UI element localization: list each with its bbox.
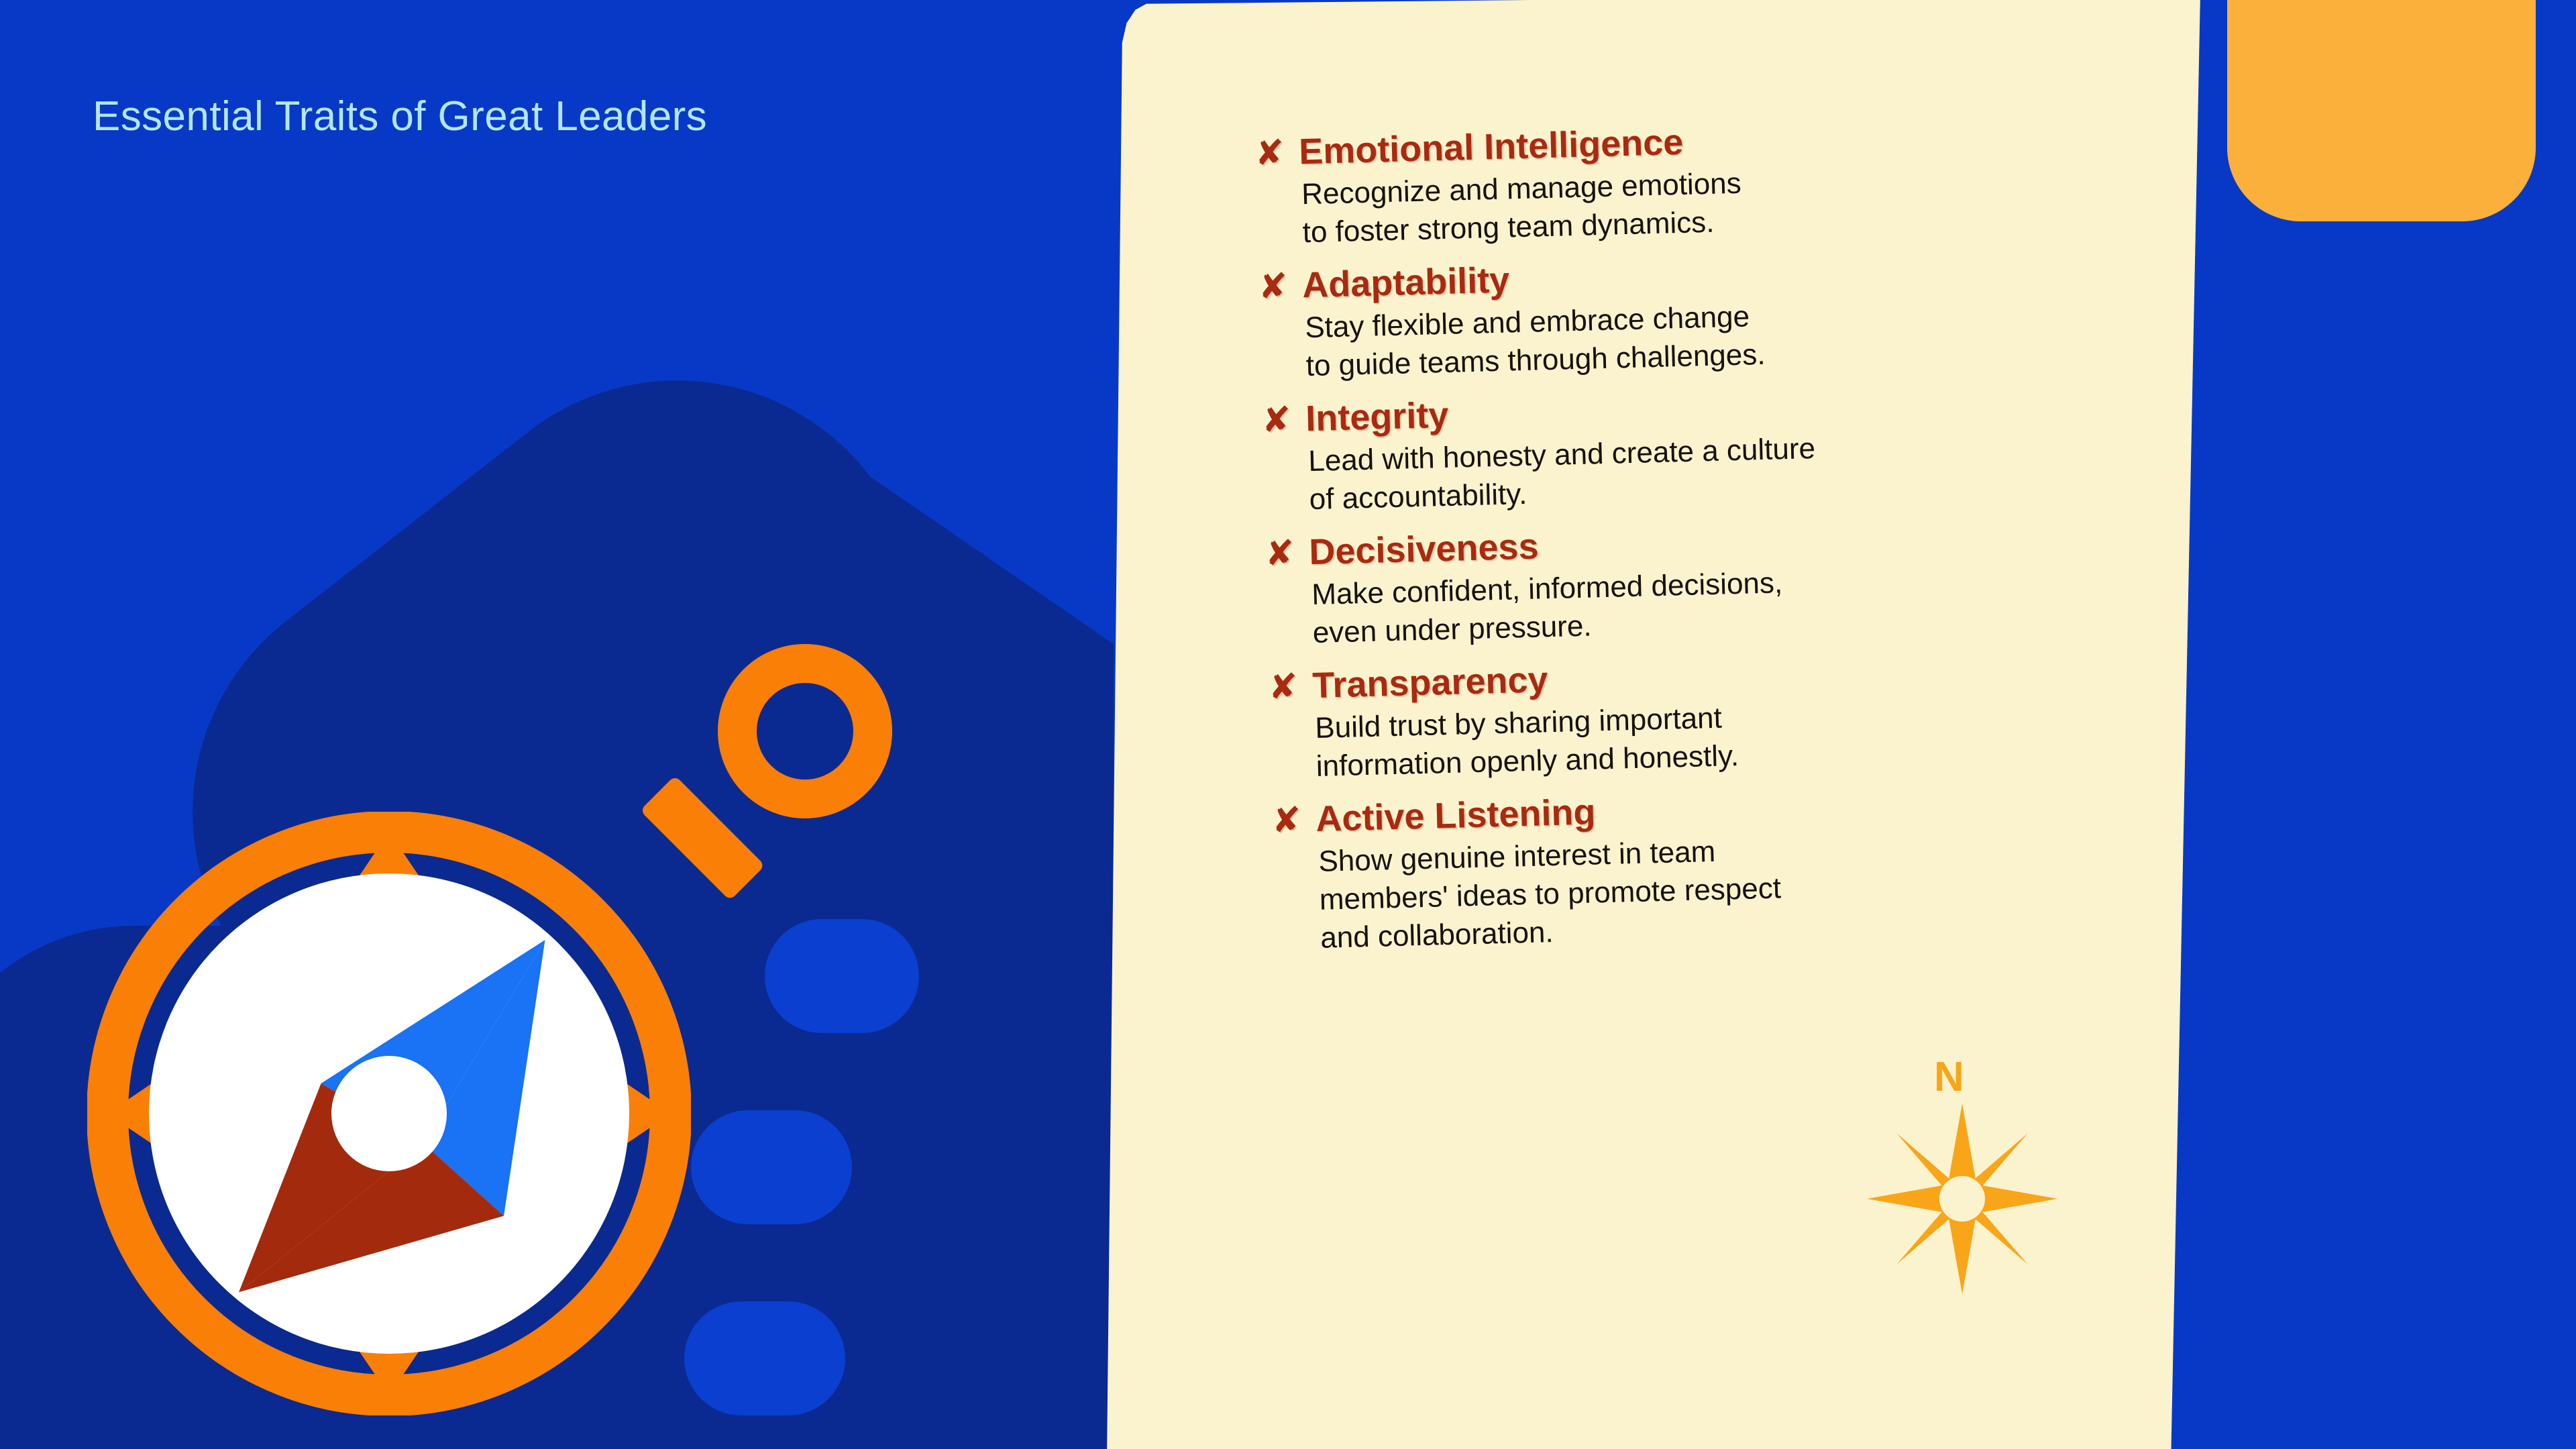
compass-handle-ring-icon [718,644,892,818]
trait-description: Stay flexible and embrace change to guid… [1305,290,2018,385]
x-mark-icon: ✘ [1258,269,1288,305]
trait-item[interactable]: ✘ Active Listening Show genuine interest… [1271,782,2067,959]
trait-description: Build trust by sharing important informa… [1315,691,2028,786]
compass-rose-icon: N [1862,1057,2063,1311]
traits-list: ✘ Emotional Intelligence Recognize and m… [1254,114,2067,973]
slide-root: ✘ Emotional Intelligence Recognize and m… [0,0,2576,1449]
x-mark-icon: ✘ [1254,136,1285,171]
x-mark-icon: ✘ [1265,536,1295,572]
trait-title: Integrity [1305,396,1449,438]
trait-description: Make confident, informed decisions, even… [1311,557,2025,652]
compass-dial-icon [87,812,691,1415]
trait-title: Active Listening [1316,794,1596,839]
trait-item[interactable]: ✘ Decisiveness Make confident, informed … [1265,515,2059,653]
trait-description: Lead with honesty and create a culture o… [1308,424,2021,519]
compass-rose-north-label: N [1934,1057,1964,1098]
x-mark-icon: ✘ [1271,803,1301,839]
trait-item[interactable]: ✘ Adaptability Stay flexible and embrace… [1258,248,2052,386]
compass-illustration [67,644,792,1368]
trait-description: Show genuine interest in team members' i… [1318,824,2032,957]
trait-title: Emotional Intelligence [1299,123,1684,171]
trait-item[interactable]: ✘ Transparency Build trust by sharing im… [1268,648,2062,787]
x-mark-icon: ✘ [1268,669,1298,705]
amber-accent-block [2227,0,2536,221]
trait-description: Recognize and manage emotions to foster … [1301,157,2015,252]
x-mark-icon: ✘ [1261,402,1291,438]
trait-title: Decisiveness [1309,528,1540,572]
trait-title: Transparency [1312,661,1549,705]
trait-title: Adaptability [1302,262,1510,305]
trait-item[interactable]: ✘ Emotional Intelligence Recognize and m… [1254,114,2049,253]
content-card: ✘ Emotional Intelligence Recognize and m… [1100,0,2200,1449]
compass-rose-star [1862,1098,2063,1299]
page-title: Essential Traits of Great Leaders [93,93,707,140]
trait-item[interactable]: ✘ Integrity Lead with honesty and create… [1261,381,2055,520]
